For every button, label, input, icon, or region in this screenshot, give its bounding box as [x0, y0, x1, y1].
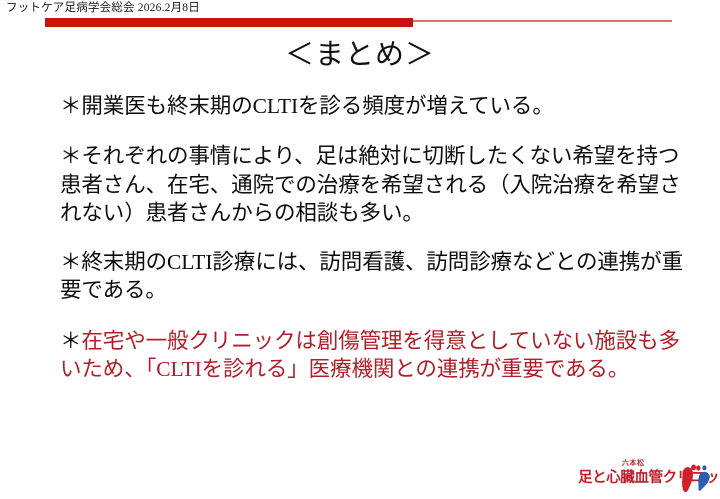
bullet-paragraph-1: ＊開業医も終末期のCLTIを診る頻度が増えている。: [60, 92, 685, 120]
bullet-star-2: ＊: [60, 144, 81, 168]
clinic-logo-sub-text: 六本松: [622, 460, 645, 468]
bullet-text-4: 在宅や一般クリニックは創傷管理を得意としていない施設も多いため、「CLTIを診れ…: [60, 329, 680, 381]
bullet-text-2: それぞれの事情により、足は絶対に切断したくない希望を持つ患者さん、在宅、通院での…: [60, 144, 681, 225]
bullet-paragraph-3: ＊終末期のCLTI診療には、訪問看護、訪問診療などとの連携が重要である。: [60, 248, 685, 305]
slide-body: ＊開業医も終末期のCLTIを診る頻度が増えている。 ＊それぞれの事情により、足は…: [60, 92, 685, 383]
bullet-star-4: ＊: [60, 329, 81, 353]
clinic-logo: 六本松 足と心臓血管クリニック: [578, 460, 714, 496]
bullet-paragraph-4: ＊在宅や一般クリニックは創傷管理を得意としていない施設も多いため、「CLTIを診…: [60, 327, 685, 384]
slide-title: ＜まとめ＞: [0, 38, 720, 72]
header-divider-thick: [45, 18, 413, 27]
bullet-star-1: ＊: [60, 94, 81, 118]
bullet-star-3: ＊: [60, 250, 81, 274]
header-divider-thin: [413, 20, 672, 22]
slide-header-text: フットケア足病学会総会 2026.2月8日: [6, 2, 200, 15]
bullet-paragraph-2: ＊それぞれの事情により、足は絶対に切断したくない希望を持つ患者さん、在宅、通院で…: [60, 142, 685, 227]
bullet-text-1: 開業医も終末期のCLTIを診る頻度が増えている。: [81, 94, 553, 118]
slide-canvas: フットケア足病学会総会 2026.2月8日 ＜まとめ＞ ＊開業医も終末期のCLT…: [0, 0, 720, 498]
bullet-text-3: 終末期のCLTI診療には、訪問看護、訪問診療などとの連携が重要である。: [60, 250, 683, 302]
heart-foot-logo-mark: [678, 464, 712, 494]
